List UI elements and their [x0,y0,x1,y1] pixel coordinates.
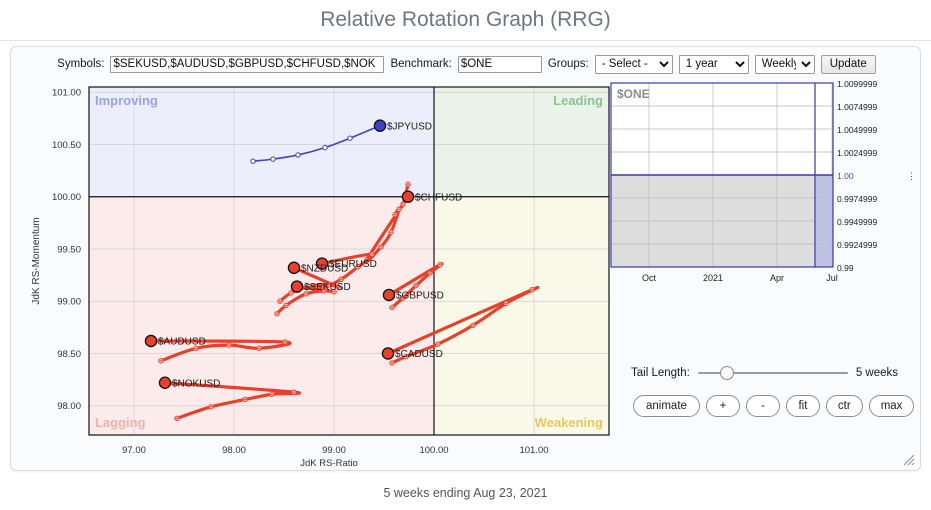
rrg-toolbar: Symbols: Benchmark: Groups: - Select - 1… [11,51,922,77]
fit-button[interactable]: fit [786,395,820,417]
ctr-button[interactable]: ctr [826,395,863,417]
update-button[interactable]: Update [821,55,876,74]
benchmark-y-tick-label: 1.0074999 [837,102,877,112]
benchmark-y-tick-label: 1.0024999 [837,148,877,158]
y-axis-label: JdK RS-Momentum [31,217,42,304]
rrg-controls: Tail Length: 5 weeks animate+-fitctrmax [607,352,917,462]
benchmark-chart[interactable]: $ONE1.00999991.00749991.00499991.0024999… [607,79,919,294]
benchmark-x-tick-label: Apr [770,273,784,283]
benchmark-plot-svg[interactable]: $ONE1.00999991.00749991.00499991.0024999… [607,79,919,294]
quadrant-label-weakening: Weakening [535,415,603,430]
animate-button[interactable]: animate [633,395,700,417]
benchmark-y-tick-label: 1.00 [837,171,854,181]
y-tick-label: 100.00 [52,192,81,203]
series-label: $JPYUSD [387,121,432,132]
benchmark-y-tick-label: 1.0049999 [837,125,877,135]
quadrant-lagging [89,197,434,435]
rrg-plot-svg[interactable]: ImprovingLeadingLaggingWeakening98.0098.… [23,79,611,467]
benchmark-y-tick-label: 1.0099999 [837,79,877,89]
groups-select[interactable]: - Select - [595,55,673,74]
series-label: $SEKUSD [304,282,351,293]
series-label: $NZDUSD [301,263,348,274]
tail-length-label: Tail Length: [631,367,690,379]
page-title: Relative Rotation Graph (RRG) [0,0,931,40]
x-tick-label: 99.00 [322,445,346,456]
title-divider [0,40,931,41]
minus-button[interactable]: - [746,395,780,417]
benchmark-y-tick-label: 0.9949999 [837,217,877,227]
series-label: $AUDUSD [158,337,206,348]
series-head-marker[interactable] [402,191,413,202]
slider-thumb[interactable] [720,366,734,380]
y-tick-label: 98.50 [57,349,81,360]
tail-length-value: 5 weeks [856,367,898,379]
benchmark-y-tick-label: 0.9974999 [837,194,877,204]
quadrant-label-leading: Leading [553,93,603,108]
series-head-marker[interactable] [374,120,385,131]
tail-length-slider[interactable] [698,366,848,380]
y-tick-label: 98.00 [57,401,81,412]
y-tick-label: 101.00 [52,88,81,99]
rrg-chart[interactable]: ImprovingLeadingLaggingWeakening98.0098.… [23,79,611,467]
rrg-panel: Symbols: Benchmark: Groups: - Select - 1… [10,46,921,471]
tail-point [251,159,255,163]
x-tick-label: 98.00 [222,445,246,456]
benchmark-symbol-label: $ONE [617,87,650,101]
series-head-marker[interactable] [382,348,393,359]
quadrant-label-lagging: Lagging [95,415,146,430]
benchmark-label: Benchmark: [390,58,451,70]
series-label: $NOKUSD [172,378,220,389]
tail-length-row: Tail Length: 5 weeks [631,364,917,382]
y-tick-label: 100.50 [52,140,81,151]
benchmark-x-tick-label: Oct [642,273,657,283]
series-label: $CHFUSD [415,192,462,203]
range-select[interactable]: 1 year [679,55,749,74]
series-head-marker[interactable] [159,377,170,388]
tail-point [348,136,352,140]
quadrant-weakening [434,197,609,435]
x-tick-label: 101.00 [519,445,548,456]
action-button-row: animate+-fitctrmax [633,394,923,418]
tail-point [296,153,300,157]
benchmark-x-tick-label: Jul [826,273,838,283]
benchmark-y-tick-label: 0.9924999 [837,240,877,250]
series-label: $GBPUSD [396,291,444,302]
benchmark-selection-band [815,175,833,267]
quadrant-label-improving: Improving [95,93,158,108]
y-tick-label: 99.50 [57,244,81,255]
rrg-page: Relative Rotation Graph (RRG) Symbols: B… [0,0,931,510]
benchmark-value-menu-icon[interactable]: ⋮ [907,171,916,181]
series-head-marker[interactable] [291,281,302,292]
benchmark-y-tick-label: 0.99 [837,263,854,273]
x-tick-label: 97.00 [122,445,146,456]
plus-button[interactable]: + [706,395,740,417]
x-tick-label: 100.00 [419,445,448,456]
series-head-marker[interactable] [145,335,156,346]
groups-label: Groups: [548,58,589,70]
x-axis-label: JdK RS-Ratio [300,458,358,467]
tail-point [271,157,275,161]
footer-caption: 5 weeks ending Aug 23, 2021 [0,482,931,504]
y-tick-label: 99.00 [57,297,81,308]
series-label: $CADUSD [395,349,443,360]
series-head-marker[interactable] [288,262,299,273]
frequency-select[interactable]: Weekly [755,55,815,74]
max-button[interactable]: max [869,395,915,417]
benchmark-x-tick-label: 2021 [703,273,723,283]
symbols-input[interactable] [110,56,384,73]
series-head-marker[interactable] [383,289,394,300]
benchmark-input[interactable] [458,56,542,73]
tail-point [323,145,327,149]
resize-grip-icon[interactable] [901,452,915,466]
symbols-label: Symbols: [57,58,104,70]
